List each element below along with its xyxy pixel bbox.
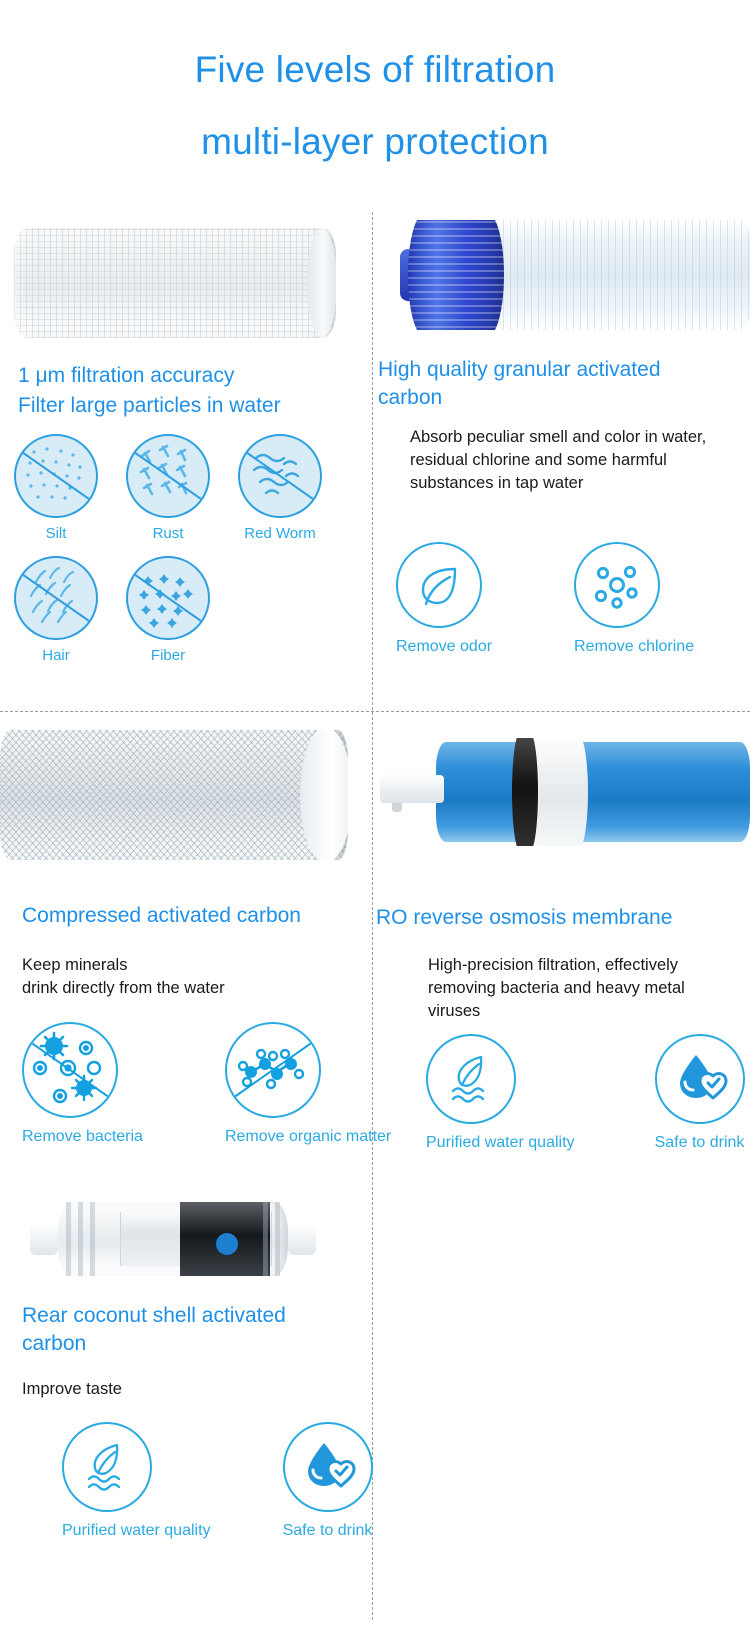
section-body: High-precision filtration, effectively r… (428, 954, 736, 1023)
title-line-2: multi-layer protection (0, 106, 750, 178)
icon-item: Silt (14, 434, 98, 543)
hair-icon (14, 556, 98, 640)
section-heading: Rear coconut shell activated carbon (22, 1302, 352, 1358)
pp-cotton-filter-photo (14, 228, 336, 338)
icon-label: Remove bacteria (22, 1127, 143, 1146)
icon-item: Fiber (126, 556, 210, 665)
icon-item: Remove organic matter (225, 1022, 391, 1146)
section-heading: RO reverse osmosis membrane (376, 904, 748, 932)
ro-membrane-photo (380, 738, 750, 846)
section-heading: 1 μm filtration accuracy (18, 362, 358, 390)
contaminant-icons-row-2: Hair (14, 556, 210, 665)
section-body: Improve taste (22, 1378, 342, 1401)
icon-label: Remove chlorine (574, 637, 694, 656)
icon-label: Silt (14, 525, 98, 543)
title-line-1: Five levels of filtration (0, 34, 750, 106)
rust-icon (126, 434, 210, 518)
icon-item: Remove bacteria (22, 1022, 143, 1146)
page-title: Five levels of filtration multi-layer pr… (0, 34, 750, 178)
icon-label: Remove organic matter (225, 1127, 391, 1146)
icon-item: Rust (126, 434, 210, 543)
icon-item: Red Worm (238, 434, 322, 543)
icon-label: Safe to drink (283, 1521, 373, 1540)
icon-item: Safe to drink (283, 1422, 373, 1540)
icon-label: Purified water quality (62, 1521, 211, 1540)
post-carbon-t33-photo (30, 1202, 316, 1276)
contaminant-icons-row-1: Silt (14, 434, 322, 543)
bacteria-icon (22, 1022, 118, 1118)
section-heading: Compressed activated carbon (22, 902, 368, 930)
leaf-icon (396, 542, 482, 628)
bubbles-icon (574, 542, 660, 628)
benefit-icons-row: Purified water quality Safe to drink (426, 1034, 745, 1152)
leaf-water-icon (426, 1034, 516, 1124)
section-heading: High quality granular activated carbon (378, 356, 724, 412)
icon-item: Remove chlorine (574, 542, 694, 656)
section-subheading: Filter large particles in water (18, 392, 358, 420)
benefit-icons-row: Remove odor Remove chl (396, 542, 694, 656)
icon-label: Hair (14, 647, 98, 665)
icon-item: Hair (14, 556, 98, 665)
section-body: Keep minerals drink directly from the wa… (22, 954, 342, 1000)
benefit-icons-row: Purified water quality Safe to drink (62, 1422, 373, 1540)
icon-label: Fiber (126, 647, 210, 665)
compressed-carbon-block-photo (0, 730, 348, 860)
fiber-icon (126, 556, 210, 640)
icon-label: Remove odor (396, 637, 492, 656)
leaf-water-icon (62, 1422, 152, 1512)
drop-heart-icon (283, 1422, 373, 1512)
icon-label: Red Worm (238, 525, 322, 543)
contaminant-icons-row: Remove bacteria (22, 1022, 391, 1146)
icon-label: Rust (126, 525, 210, 543)
icon-item: Safe to drink (655, 1034, 745, 1152)
drop-heart-icon (655, 1034, 745, 1124)
organic-matter-icon (225, 1022, 321, 1118)
infographic-page: Five levels of filtration multi-layer pr… (0, 0, 750, 1633)
silt-icon (14, 434, 98, 518)
icon-item: Purified water quality (62, 1422, 211, 1540)
icon-item: Purified water quality (426, 1034, 575, 1152)
icon-label: Purified water quality (426, 1133, 575, 1152)
icon-label: Safe to drink (655, 1133, 745, 1152)
icon-item: Remove odor (396, 542, 492, 656)
granular-carbon-cartridge-photo (400, 220, 750, 330)
vertical-divider (372, 212, 373, 1620)
horizontal-divider (0, 711, 750, 712)
section-body: Absorb peculiar smell and color in water… (410, 426, 710, 495)
red-worm-icon (238, 434, 322, 518)
